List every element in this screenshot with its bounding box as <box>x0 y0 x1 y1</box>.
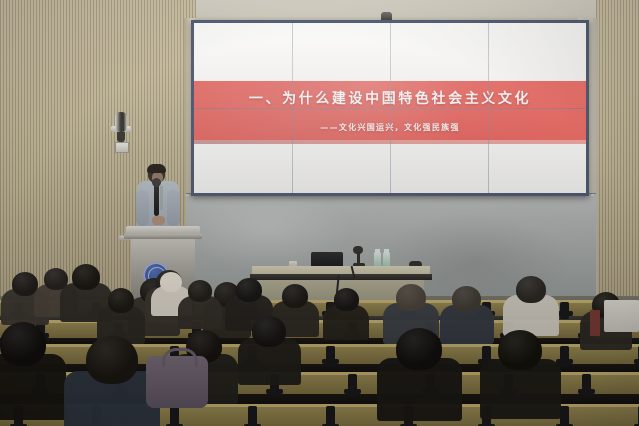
water-bottle-icon <box>383 252 390 267</box>
seat-bracket-arm[interactable] <box>634 359 639 364</box>
panel-seam-h1 <box>194 108 586 109</box>
audience-member-head <box>160 272 182 292</box>
audience-member-head <box>108 288 134 313</box>
seat-bracket-arm[interactable] <box>344 389 361 394</box>
audience-member-head <box>396 328 442 370</box>
audience-member-head <box>0 322 46 366</box>
seat-bracket-arm[interactable] <box>322 359 339 364</box>
seat-bracket[interactable] <box>170 406 179 426</box>
speaker-hair <box>147 164 166 173</box>
speaker-hand <box>152 216 165 225</box>
speaker-lanyard <box>160 186 163 210</box>
water-bottle-icon <box>374 252 381 267</box>
water-bottle-cap <box>384 249 389 253</box>
audience-member-head <box>72 264 100 290</box>
audience-member-head <box>498 330 542 370</box>
audience-member-head <box>252 316 286 347</box>
seat-bracket-arm[interactable] <box>556 359 573 364</box>
water-bottle-cap <box>375 249 380 253</box>
handheld-microphone-icon <box>154 182 159 216</box>
wall-camera-arm <box>117 132 125 142</box>
seat-bracket[interactable] <box>326 406 335 426</box>
red-object <box>590 310 600 336</box>
microphone-head <box>152 178 161 187</box>
audience-member-head <box>452 286 481 312</box>
audience-member-head <box>236 278 262 302</box>
speaker-right-arm <box>167 190 180 226</box>
audience-member-head <box>282 284 308 308</box>
seat-bracket[interactable] <box>248 406 257 426</box>
seat-bracket[interactable] <box>560 406 569 426</box>
wall-camera-icon <box>115 112 127 132</box>
seat-bracket-arm[interactable] <box>266 389 283 394</box>
audience-member-head <box>188 280 212 302</box>
audience-member-head <box>86 336 138 384</box>
audience-member-head <box>516 276 546 303</box>
video-wall-screen: 一、为什么建设中国特色社会主义文化 ——文化兴国运兴，文化强民族强 <box>194 23 586 193</box>
right-wall-panel <box>596 0 639 300</box>
audience-member-head <box>396 284 426 311</box>
video-wall[interactable]: 一、为什么建设中国特色社会主义文化 ——文化兴国运兴，文化强民族强 <box>191 20 589 196</box>
seat-bracket-arm[interactable] <box>578 389 595 394</box>
speaker-left-arm <box>136 190 149 226</box>
lecture-hall-photo: 一、为什么建设中国特色社会主义文化 ——文化兴国运兴，文化强民族强 <box>0 0 639 426</box>
bag-handle <box>162 348 198 367</box>
wall-camera-mount <box>115 142 129 153</box>
laptop-screen-icon <box>604 300 639 332</box>
audience-member-head <box>334 288 359 311</box>
